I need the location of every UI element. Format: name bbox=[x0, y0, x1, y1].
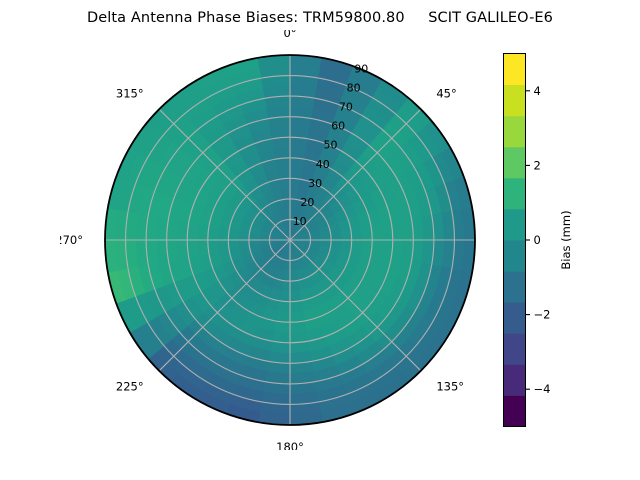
heatmap-cell bbox=[290, 291, 301, 302]
heatmap-cell bbox=[272, 331, 290, 343]
colorbar-band bbox=[504, 333, 526, 365]
colorbar-band bbox=[504, 364, 526, 396]
radial-tick-label-60: 60 bbox=[331, 120, 345, 133]
heatmap-cell bbox=[276, 311, 290, 322]
colorbar-band bbox=[504, 85, 526, 117]
radial-tick-label-30: 30 bbox=[308, 177, 322, 190]
angular-tick-label-270: 270° bbox=[60, 233, 83, 247]
polar-plot-axes: 0°45°90135°180°225°270°315° 102030405060… bbox=[60, 30, 490, 450]
heatmap-cell bbox=[290, 301, 302, 312]
heatmap-cell bbox=[228, 240, 239, 251]
colorbar-band bbox=[504, 178, 526, 210]
angular-tick-label-225: 225° bbox=[116, 379, 144, 393]
radial-tick-label-40: 40 bbox=[316, 158, 330, 171]
heatmap-cell bbox=[351, 228, 362, 240]
heatmap-cell bbox=[187, 240, 199, 258]
heatmap-cell bbox=[381, 240, 393, 258]
angular-tick-label-315: 315° bbox=[116, 87, 144, 101]
angular-tick-label-135: 135° bbox=[436, 379, 464, 393]
radial-tick-label-10: 10 bbox=[293, 215, 307, 228]
heatmap-cell bbox=[381, 222, 393, 240]
colorbar-bands bbox=[504, 54, 526, 428]
radial-tick-label-70: 70 bbox=[339, 101, 353, 114]
radial-tick-label-80: 80 bbox=[347, 82, 361, 95]
colorbar-tick-labels: 420−2−4 bbox=[526, 84, 551, 396]
heatmap-cell bbox=[351, 240, 362, 252]
heatmap-cell bbox=[208, 240, 219, 254]
heatmap-cell bbox=[208, 226, 219, 240]
heatmap-cell bbox=[276, 158, 290, 169]
heatmap-cell bbox=[187, 222, 199, 240]
radial-tick-label-50: 50 bbox=[324, 139, 338, 152]
heatmap-cell bbox=[290, 311, 304, 322]
heatmap-cell bbox=[239, 240, 250, 249]
heatmap-cell bbox=[218, 228, 229, 240]
angular-tick-label-45: 45° bbox=[436, 87, 456, 101]
colorbar-tick-label: 4 bbox=[534, 84, 541, 98]
colorbar-band bbox=[504, 116, 526, 148]
heatmap-cell bbox=[290, 137, 308, 149]
heatmap-cell bbox=[281, 189, 290, 200]
heatmap-cell bbox=[290, 280, 299, 291]
heatmap-cell bbox=[361, 240, 372, 254]
heatmap-cell bbox=[278, 301, 290, 312]
angular-tick-label-180: 180° bbox=[276, 440, 304, 450]
heatmap-cell bbox=[361, 226, 372, 240]
heatmap-cell bbox=[272, 137, 290, 149]
colorbar-band bbox=[504, 271, 526, 303]
heatmap-cell bbox=[330, 231, 341, 240]
colorbar-band bbox=[504, 302, 526, 334]
page-title: Delta Antenna Phase Biases: TRM59800.80 … bbox=[0, 10, 640, 26]
colorbar-band bbox=[504, 147, 526, 179]
colorbar-tick-label: 0 bbox=[534, 233, 541, 247]
colorbar-band bbox=[504, 54, 526, 86]
colorbar-band bbox=[504, 240, 526, 272]
radial-tick-label-90: 90 bbox=[354, 62, 368, 75]
colorbar-axis-label: Bias (mm) bbox=[556, 53, 576, 427]
colorbar-tick-label: −2 bbox=[534, 308, 551, 322]
colorbar-band bbox=[504, 395, 526, 427]
colorbar-tick-label: −4 bbox=[534, 382, 551, 396]
colorbar-tick-label: 2 bbox=[534, 158, 541, 172]
heatmap-cell bbox=[279, 178, 290, 189]
heatmap-cell bbox=[290, 331, 308, 343]
heatmap-cell bbox=[290, 158, 304, 169]
heatmap-cell bbox=[290, 168, 302, 179]
heatmap-cell bbox=[218, 240, 229, 252]
polar-plot-svg: 0°45°90135°180°225°270°315° 102030405060… bbox=[60, 30, 490, 450]
angular-tick-label-0: 0° bbox=[283, 30, 296, 40]
polar-grid-group bbox=[105, 55, 475, 425]
radial-tick-label-20: 20 bbox=[300, 196, 314, 209]
heatmap-cell bbox=[341, 229, 352, 240]
heatmap-cell bbox=[278, 168, 290, 179]
figure-canvas: Delta Antenna Phase Biases: TRM59800.80 … bbox=[0, 0, 640, 480]
colorbar-band bbox=[504, 209, 526, 241]
